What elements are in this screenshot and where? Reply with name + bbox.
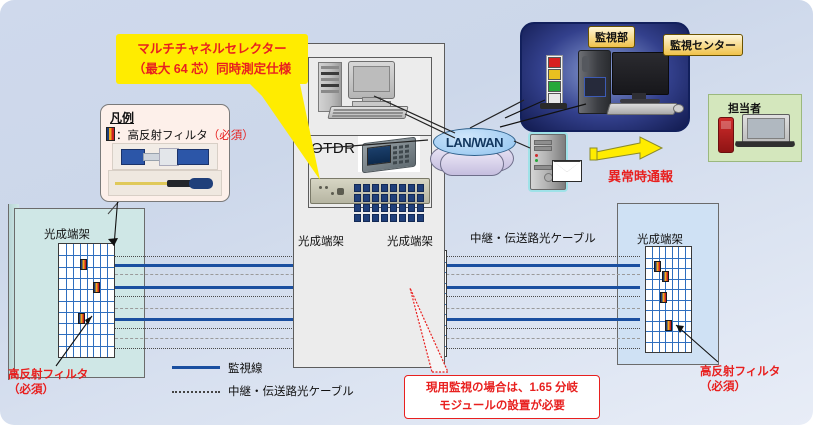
annotation-right-filter-line2: （必須） [700, 380, 780, 395]
mobile-phone-icon [718, 117, 734, 153]
mouse-icon [673, 104, 684, 113]
tag-monitoring-center: 監視センター [663, 34, 743, 56]
filter-mark [665, 320, 672, 331]
keyboard-icon [327, 106, 408, 119]
diagram-canvas: OTDR 監視部 監視センター 担当者 [0, 0, 813, 425]
server-tower-icon [578, 50, 611, 114]
odf-rack-right-label: 光成端架 [387, 233, 433, 249]
lan-wan-badge: LAN/WAN [433, 128, 516, 156]
annotation-left-filter: 高反射フィルタ （必須） [8, 368, 88, 398]
crt-monitor-icon [348, 61, 395, 99]
odf-rack-left-label: 光成端架 [298, 233, 344, 249]
keyboard-icon [606, 103, 677, 115]
laptop-icon [742, 114, 790, 143]
lcd-monitor-icon [612, 52, 669, 95]
legend-line-cable-swatch [172, 391, 220, 393]
legend-title: 凡例 [110, 109, 134, 126]
callout-red-line1: 現用監視の場合は、1.65 分岐 [426, 379, 578, 397]
annotation-left-filter-line2: （必須） [8, 383, 88, 398]
callout-yellow-line2: （最大 64 芯）同時測定仕様 [133, 59, 291, 79]
optical-connector-photo [112, 143, 218, 170]
legend-line-monitoring-label: 監視線 [228, 360, 263, 376]
transmission-cable-label: 中継・伝送路光ケーブル [470, 230, 596, 246]
filter-mark [654, 261, 661, 272]
filter-mark [93, 282, 100, 293]
filter-mark [78, 313, 85, 324]
legend-line-monitoring-swatch [172, 366, 220, 369]
legend-line-cable-label: 中継・伝送路光ケーブル [228, 383, 354, 399]
filter-mark [662, 271, 669, 282]
legend-filter-label: ：高反射フィルタ [116, 130, 208, 142]
multichannel-selector-icon [310, 178, 430, 204]
filter-mark [80, 259, 87, 270]
callout-multichannel-selector: マルチチャネルセレクター （最大 64 芯）同時測定仕様 [116, 34, 308, 84]
envelope-icon [552, 160, 582, 182]
lan-wan-label: LAN/WAN [446, 135, 503, 150]
annotation-right-filter-line1: 高反射フィルタ [700, 365, 780, 380]
odf-right-label: 光成端架 [637, 231, 683, 247]
callout-red-line2: モジュールの設置が必要 [439, 397, 565, 415]
signal-tower-base [540, 103, 567, 109]
otdr-label: OTDR [311, 140, 356, 157]
laptop-base [734, 141, 796, 147]
legend-filter-row: ：高反射フィルタ（必須） [106, 127, 254, 143]
desktop-pc-icon [318, 62, 342, 112]
patch-cord-photo [108, 170, 222, 196]
legend-filter-required: （必須） [208, 130, 254, 142]
annotation-right-filter: 高反射フィルタ （必須） [700, 365, 780, 395]
odf-left-label: 光成端架 [44, 226, 90, 242]
tag-monitoring-department: 監視部 [588, 26, 635, 48]
callout-yellow-line1: マルチチャネルセレクター [137, 39, 286, 59]
signal-tower-icon [546, 55, 563, 107]
filter-chip-icon [106, 127, 115, 141]
alert-text: 異常時通報 [608, 166, 673, 185]
callout-branch-module: 現用監視の場合は、1.65 分岐 モジュールの設置が必要 [404, 375, 600, 419]
filter-mark [660, 292, 667, 303]
annotation-left-filter-line1: 高反射フィルタ [8, 368, 88, 383]
odf-right [645, 246, 692, 353]
